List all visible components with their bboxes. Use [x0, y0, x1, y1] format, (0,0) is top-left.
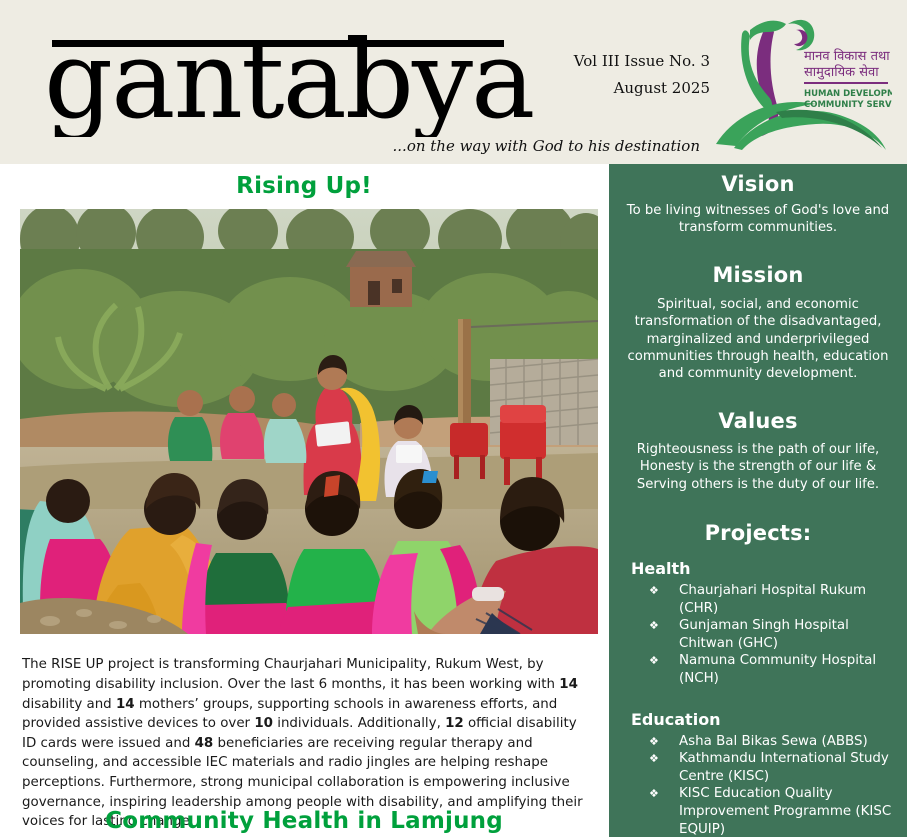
- logo-nepali-line2: सामुदायिक सेवा: [804, 64, 879, 80]
- sidebar-mission-text: Spiritual, social, and economic transfor…: [623, 296, 893, 383]
- diamond-bullet-icon: ❖: [649, 582, 659, 600]
- project-list-item: ❖Asha Bal Bikas Sewa (ABBS): [649, 733, 897, 751]
- article-title: Rising Up!: [0, 164, 608, 199]
- project-list-item: ❖Gunjaman Singh Hospital Chitwan (GHC): [649, 617, 897, 652]
- project-list-item: ❖KISC Education Quality Improvement Prog…: [649, 785, 897, 837]
- gantabya-wordmark: gantabya: [34, 12, 554, 137]
- article-photo: [20, 209, 598, 634]
- sidebar-projects-heading: Projects:: [609, 493, 907, 545]
- diamond-bullet-icon: ❖: [649, 652, 659, 670]
- sidebar-vision-text: To be living witnesses of God's love and…: [623, 202, 893, 237]
- next-article-title: Community Health in Lamjung: [0, 800, 608, 834]
- sidebar: Vision To be living witnesses of God's l…: [609, 164, 907, 837]
- issue-volume: Vol III Issue No. 3: [520, 48, 710, 75]
- diamond-bullet-icon: ❖: [649, 750, 659, 768]
- sidebar-projects-education: Education ❖Asha Bal Bikas Sewa (ABBS)❖Ka…: [609, 710, 907, 837]
- body-run: individuals. Additionally,: [273, 716, 445, 731]
- project-category-education: Education: [631, 710, 907, 729]
- tagline: ...on the way with God to his destinatio…: [300, 137, 700, 155]
- body-highlight: 14: [559, 677, 578, 692]
- hdcs-logo: मानव विकास तथा सामुदायिक सेवा HUMAN DEVE…: [712, 8, 892, 156]
- project-list-item: ❖Namuna Community Hospital (NCH): [649, 652, 897, 687]
- body-highlight: 48: [195, 736, 214, 751]
- body-highlight: 10: [254, 716, 273, 731]
- sidebar-values-text: Righteousness is the path of our life, H…: [623, 441, 893, 493]
- project-list-item-label: Asha Bal Bikas Sewa (ABBS): [679, 734, 868, 749]
- project-list-item-label: Chaurjahari Hospital Rukum (CHR): [679, 583, 866, 616]
- project-list-item-label: Namuna Community Hospital (NCH): [679, 653, 876, 686]
- sidebar-projects-health: Health ❖Chaurjahari Hospital Rukum (CHR)…: [609, 559, 907, 688]
- issue-date: August 2025: [520, 75, 710, 102]
- sidebar-mission-heading: Mission: [609, 237, 907, 287]
- main-column: Rising Up!: [0, 164, 608, 837]
- body-run: The RISE UP project is transforming Chau…: [22, 657, 559, 692]
- project-list-item-label: KISC Education Quality Improvement Progr…: [679, 786, 891, 836]
- diamond-bullet-icon: ❖: [649, 617, 659, 635]
- project-category-health: Health: [631, 559, 907, 578]
- sidebar-vision-heading: Vision: [609, 164, 907, 196]
- project-list-item: ❖Kathmandu International Study Centre (K…: [649, 750, 897, 785]
- svg-text:gantabya: gantabya: [44, 18, 533, 137]
- project-list-item: ❖Chaurjahari Hospital Rukum (CHR): [649, 582, 897, 617]
- body-run: disability and: [22, 697, 116, 712]
- body-highlight: 12: [445, 716, 464, 731]
- issue-info: Vol III Issue No. 3 August 2025: [520, 48, 710, 102]
- project-list-item-label: Kathmandu International Study Centre (KI…: [679, 751, 889, 784]
- logo-english-line1: HUMAN DEVELOPMENT AND: [804, 89, 892, 99]
- sidebar-values-heading: Values: [609, 383, 907, 433]
- project-list-item-label: Gunjaman Singh Hospital Chitwan (GHC): [679, 618, 849, 651]
- diamond-bullet-icon: ❖: [649, 733, 659, 751]
- project-list-education: ❖Asha Bal Bikas Sewa (ABBS)❖Kathmandu In…: [609, 733, 907, 837]
- body-highlight: 14: [116, 697, 135, 712]
- project-list-health: ❖Chaurjahari Hospital Rukum (CHR)❖Gunjam…: [609, 582, 907, 688]
- diamond-bullet-icon: ❖: [649, 785, 659, 803]
- logo-nepali-line1: मानव विकास तथा: [804, 48, 890, 64]
- masthead: gantabya Vol III Issue No. 3 August 2025…: [0, 0, 907, 164]
- logo-english-line2: COMMUNITY SERVICES: [804, 100, 892, 110]
